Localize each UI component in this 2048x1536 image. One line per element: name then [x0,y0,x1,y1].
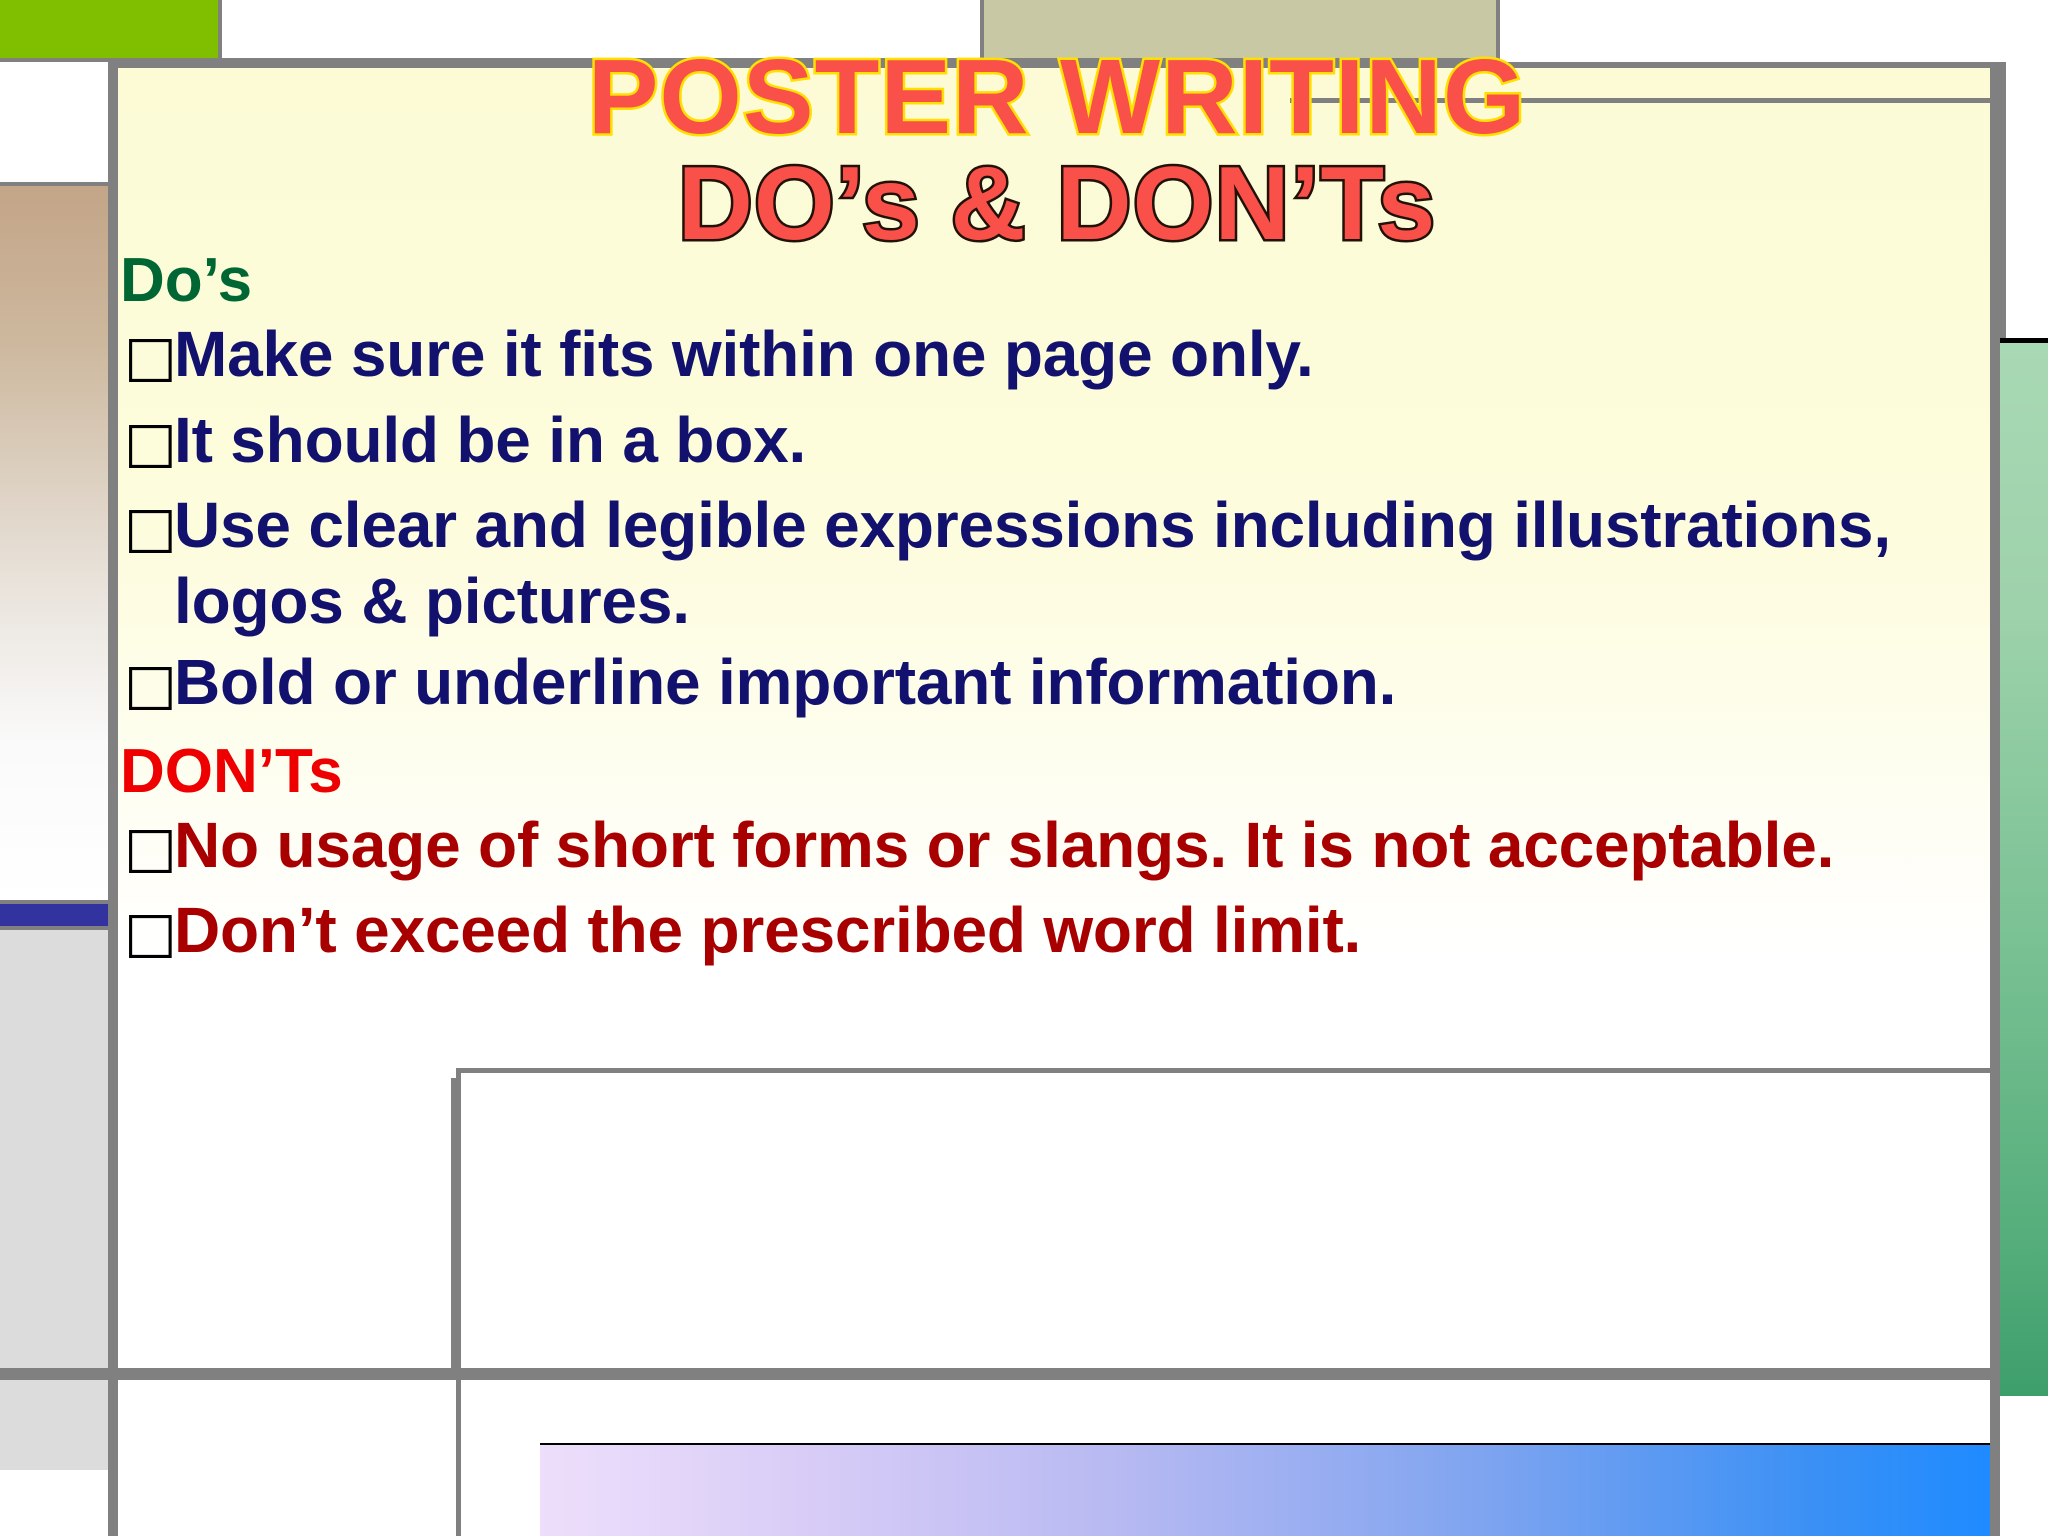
checkbox-bullet-icon: □ [118,893,174,973]
decor-left-blue-bar [0,904,108,930]
decor-right-green-gradient [2000,338,2048,1396]
list-item-text: Bold or underline important information. [174,645,1998,721]
checkbox-bullet-icon: □ [118,317,174,397]
decor-left-vertical-rule [108,62,118,1536]
page-subtitle: DO’s & DON’Ts [118,152,1996,256]
decor-bottom-vertical-divider [456,1380,461,1536]
list-item: □ No usage of short forms or slangs. It … [118,808,1998,888]
list-item-text: No usage of short forms or slangs. It is… [174,808,1998,884]
decor-bottom-mid-box [456,1068,1996,1368]
checkbox-bullet-icon: □ [118,403,174,483]
list-item: □ Make sure it fits within one page only… [118,317,1998,397]
section-heading-dos: Do’s [118,248,1998,313]
section-heading-donts: DON’Ts [118,739,1998,804]
list-item: □ Bold or underline important informatio… [118,645,1998,725]
body-content: Do’s □ Make sure it fits within one page… [118,248,1998,1098]
checkbox-bullet-icon: □ [118,645,174,725]
checkbox-bullet-icon: □ [118,488,174,568]
decor-bottom-gradient-bar [540,1443,1990,1536]
decor-bottom-left-box [118,1078,456,1368]
decor-white-left-small [0,66,108,186]
list-item-text: It should be in a box. [174,403,1998,479]
list-item: □ Don’t exceed the prescribed word limit… [118,893,1998,973]
decor-left-gray-panel [0,930,108,1470]
decor-right-white-upper [1996,62,2048,338]
slide-canvas: POSTER WRITING DO’s & DON’Ts Do’s □ Make… [0,0,2048,1536]
list-item-text: Make sure it fits within one page only. [174,317,1998,393]
list-item-text: Use clear and legible expressions includ… [174,488,1998,639]
decor-bottom-horizontal-rule [0,1368,2048,1380]
list-item: □ Use clear and legible expressions incl… [118,488,1998,639]
decor-left-gradient-strip [0,186,108,904]
checkbox-bullet-icon: □ [118,808,174,888]
list-item: □ It should be in a box. [118,403,1998,483]
decor-right-white-lower [2000,1396,2048,1482]
list-item-text: Don’t exceed the prescribed word limit. [174,893,1998,969]
page-title: POSTER WRITING [118,44,1996,150]
